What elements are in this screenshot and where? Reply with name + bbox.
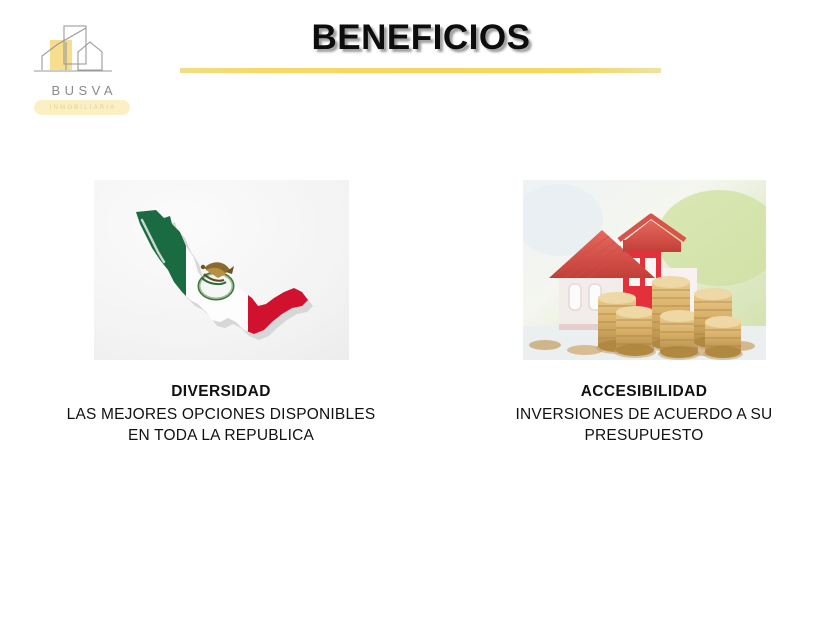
benefit-body-line: EN TODA LA REPUBLICA	[33, 426, 409, 447]
benefit-body: INVERSIONES DE ACUERDO A SU PRESUPUESTO	[487, 405, 801, 447]
benefit-body-line: PRESUPUESTO	[487, 426, 801, 447]
building-house-line-logo-icon	[28, 22, 136, 84]
page-title: BENEFICIOS	[180, 18, 662, 58]
benefit-caption-accesibilidad: ACCESIBILIDAD INVERSIONES DE ACUERDO A S…	[487, 382, 801, 446]
benefit-heading: DIVERSIDAD	[33, 382, 409, 403]
house-coins-image	[523, 180, 766, 360]
brand-name: BUSVA	[28, 83, 136, 98]
brand-tagline: INMOBILIARIA	[48, 105, 117, 111]
brand-logo[interactable]: BUSVA INMOBILIARIA	[28, 22, 136, 122]
brand-tagline-pill: INMOBILIARIA	[34, 100, 130, 115]
benefit-caption-diversidad: DIVERSIDAD LAS MEJORES OPCIONES DISPONIB…	[33, 382, 409, 446]
slide-beneficios: BUSVA INMOBILIARIA BENEFICIOS	[0, 0, 840, 630]
coat-of-arms-emblem	[199, 262, 234, 299]
title-underline-rule	[180, 68, 661, 73]
benefit-body: LAS MEJORES OPCIONES DISPONIBLES EN TODA…	[33, 405, 409, 447]
benefit-column-diversidad: DIVERSIDAD LAS MEJORES OPCIONES DISPONIB…	[33, 180, 409, 446]
mexico-map-flag-image	[94, 180, 349, 360]
benefit-column-accesibilidad: ACCESIBILIDAD INVERSIONES DE ACUERDO A S…	[487, 180, 801, 446]
benefit-body-line: INVERSIONES DE ACUERDO A SU	[487, 405, 801, 426]
benefit-heading: ACCESIBILIDAD	[487, 382, 801, 403]
benefit-body-line: LAS MEJORES OPCIONES DISPONIBLES	[33, 405, 409, 426]
